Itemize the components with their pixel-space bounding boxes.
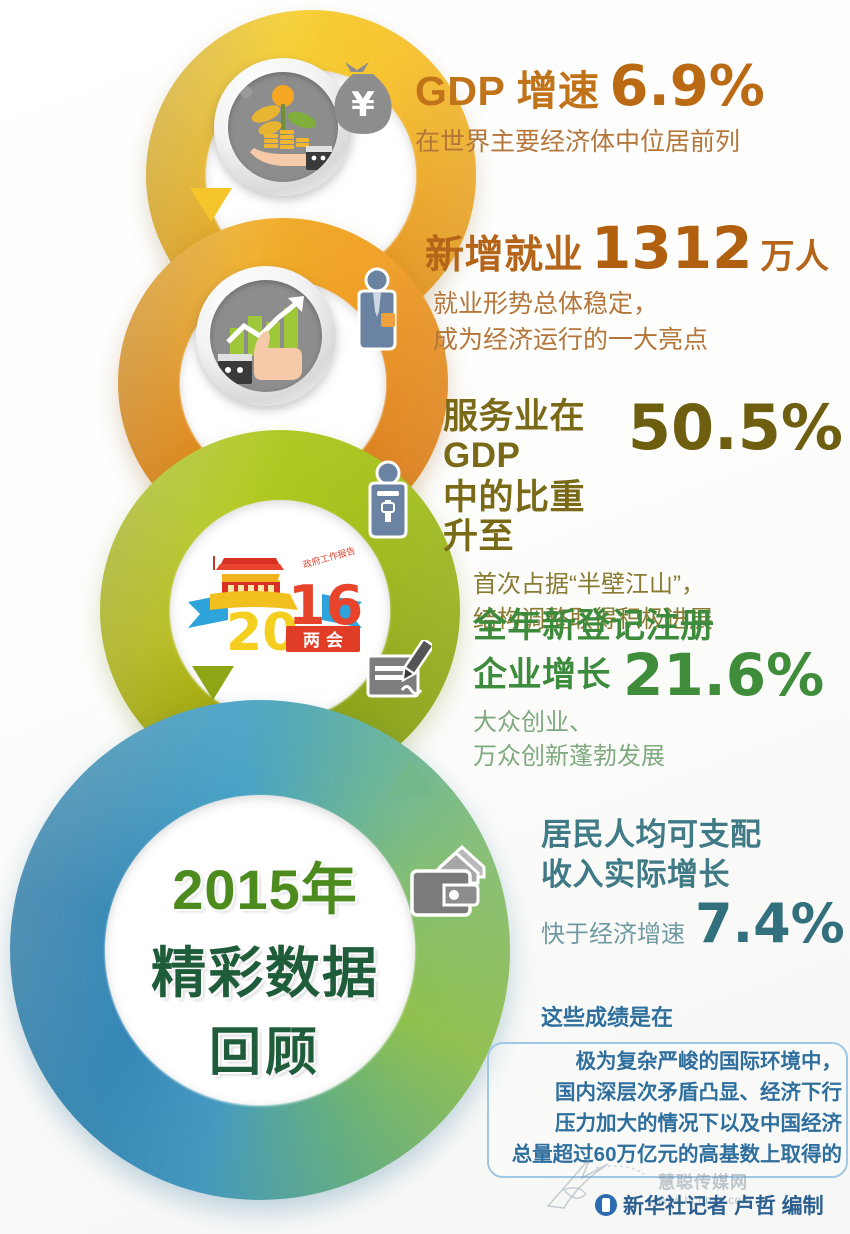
stat-headline-employment: 新增就业: [425, 235, 583, 278]
businessman-icon: [349, 265, 405, 357]
stat-headline-income-1: 居民人均可支配: [541, 818, 850, 852]
stat-value-income: 7.4%: [695, 900, 845, 949]
stat-headline-service-2: 中的比重升至: [443, 479, 618, 556]
plant-coins-hand-icon: [228, 72, 338, 182]
callout-line-1: 国内深层次矛盾凸显、经济下行: [492, 1077, 842, 1108]
stat-value-gdp: 6.9%: [610, 62, 765, 112]
stat-sub-employment-1: 成为经济运行的一大亮点: [433, 322, 845, 358]
stat-value-enterprises: 21.6%: [623, 649, 824, 701]
callout-line-2: 压力加大的情况下以及中国经济: [492, 1108, 842, 1139]
wallet-icon: [404, 845, 486, 925]
stat-block-enterprises: 全年新登记注册 企业增长 21.6% 大众创业、 万众创新蓬勃发展: [473, 608, 850, 775]
infographic-canvas: ¥: [0, 0, 850, 1234]
stat-headline-enterprises-1: 全年新登记注册: [473, 608, 850, 645]
center-title: 2015年 精彩数据 回顾: [125, 845, 405, 1085]
stat-sub-gdp-0: 在世界主要经济体中位居前列: [415, 124, 835, 160]
callout-line-3: 总量超过60万亿元的高基数上取得的: [492, 1139, 842, 1170]
stat-value-service: 50.5%: [628, 400, 843, 456]
service-person-icon: [360, 457, 416, 543]
callout-lead: 这些成绩是在: [541, 1000, 673, 1032]
badge-2016-lianghui: 政府工作报告 20 16 两 会: [180, 528, 370, 663]
callout-text: 极为复杂严峻的国际环境中， 国内深层次矛盾凸显、经济下行 压力加大的情况下以及中…: [492, 1046, 850, 1171]
stat-block-gdp: GDP 增速 6.9% 在世界主要经济体中位居前列: [415, 62, 835, 160]
form-pen-signing-icon: [366, 640, 432, 702]
stat-value-employment: 1312: [591, 222, 752, 274]
callout-line-0: 极为复杂严峻的国际环境中，: [492, 1046, 842, 1077]
credit-text: 新华社记者 卢哲 编制: [623, 1190, 824, 1220]
stat-block-service: 服务业在GDP 中的比重升至 50.5% 首次占据“半壁江山”， 结构调整取得积…: [443, 398, 843, 638]
stat-sub-enterprises-0: 大众创业、: [473, 706, 850, 741]
stat-block-employment: 新增就业 1312 万人 就业形势总体稳定， 成为经济运行的一大亮点: [425, 222, 845, 358]
stat-headline-service-1: 服务业在GDP: [443, 398, 618, 475]
stat-sub-enterprises-1: 万众创新蓬勃发展: [473, 740, 850, 775]
medallion-employment: [196, 266, 336, 406]
stat-unit-employment: 万人: [760, 239, 829, 276]
center-title-line2: 精彩数据: [125, 928, 405, 1008]
center-title-line3: 回顾: [125, 1010, 405, 1085]
stat-value-prefix-income: 快于经济增速: [541, 918, 685, 953]
svg-text:¥: ¥: [351, 85, 375, 125]
stat-sub-service-0: 首次占据“半壁江山”，: [473, 568, 843, 603]
stat-headline-enterprises-2: 企业增长: [473, 657, 611, 694]
money-bag-yuan-icon: ¥: [329, 60, 397, 140]
credit: 新华社记者 卢哲 编制: [595, 1190, 824, 1220]
xinhua-logo-icon: [595, 1194, 617, 1216]
stat-headline-gdp: GDP 增速: [415, 69, 600, 114]
stat-block-income: 居民人均可支配 收入实际增长 快于经济增速 7.4%: [541, 818, 850, 953]
center-title-year: 2015年: [125, 845, 405, 926]
svg-text:政府工作报告: 政府工作报告: [302, 544, 357, 570]
thumbs-up-growth-chart-icon: [210, 280, 322, 392]
badge-lianghui: 两 会: [303, 630, 343, 651]
stat-headline-income-2: 收入实际增长: [541, 858, 850, 892]
stat-sub-employment-0: 就业形势总体稳定，: [433, 286, 845, 322]
